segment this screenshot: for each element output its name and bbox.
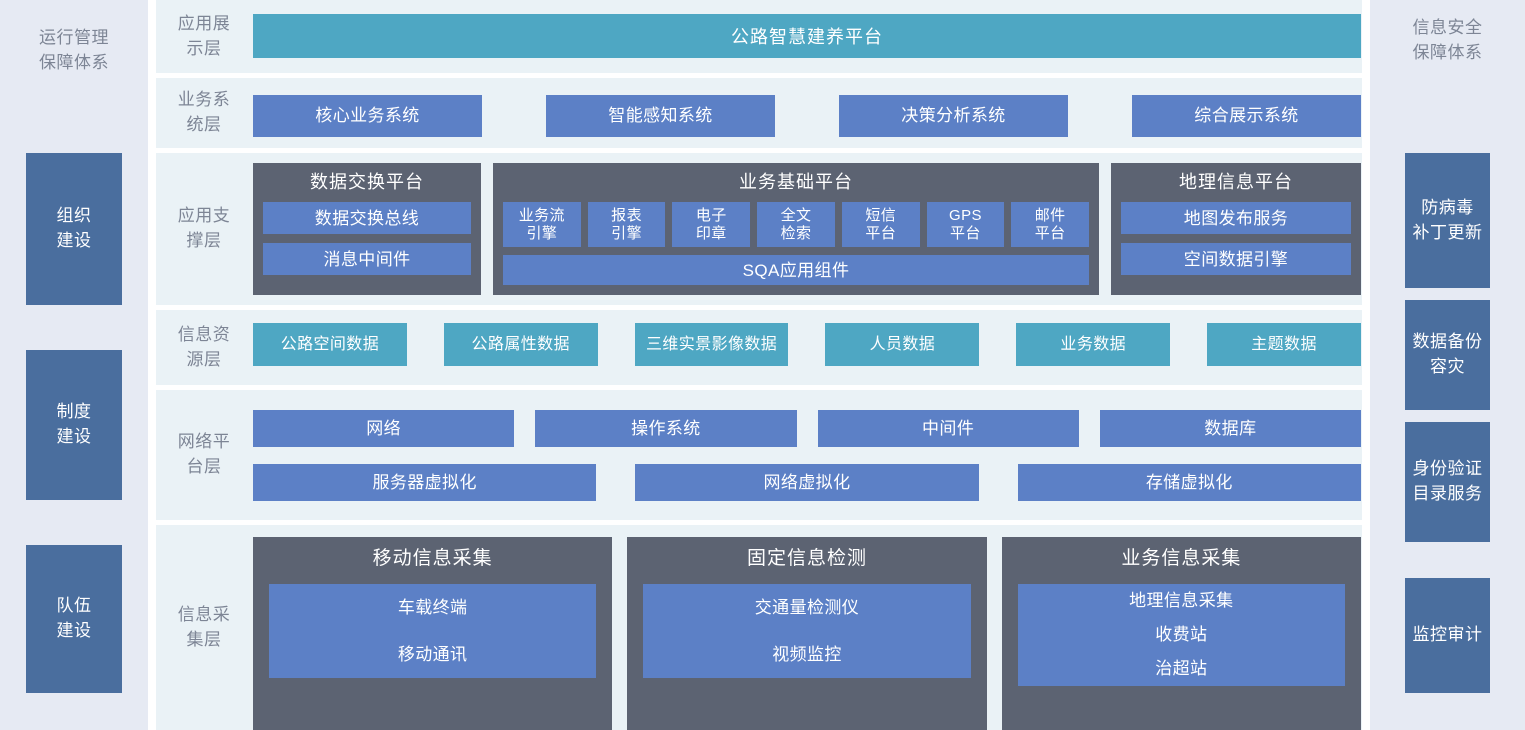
tile-vehicle-terminal-label: 车载终端	[398, 597, 468, 618]
tile-data-exchange-bus[interactable]: 数据交换总线	[263, 202, 471, 234]
right-rail-box-monitoring-audit[interactable]: 监控审计	[1405, 578, 1490, 693]
tile-sqa-application-component-label: SQA应用组件	[743, 260, 850, 281]
tile-network-virtualization-label: 网络虚拟化	[763, 472, 850, 493]
tile-mobile-communication[interactable]: 移动通讯	[269, 631, 596, 678]
platform-banner[interactable]: 公路智慧建养平台	[253, 14, 1361, 58]
tile-network[interactable]: 网络	[253, 410, 514, 447]
panel-data-exchange-platform: 数据交换平台 数据交换总线 消息中间件	[253, 163, 481, 295]
left-rail-box-team-label: 队伍 建设	[57, 594, 92, 643]
tile-decision-analysis-system[interactable]: 决策分析系统	[839, 95, 1068, 137]
tile-sqa-application-component[interactable]: SQA应用组件	[503, 255, 1089, 285]
right-rail-box-monitoring-audit-label: 监控审计	[1413, 623, 1483, 648]
tile-server-virtualization-label: 服务器虚拟化	[372, 472, 476, 493]
tile-video-surveillance[interactable]: 视频监控	[643, 631, 970, 678]
tile-database-label: 数据库	[1204, 418, 1256, 439]
tile-electronic-seal[interactable]: 电子 印章	[672, 202, 750, 247]
tile-toll-station-label: 收费站	[1155, 624, 1207, 645]
tile-email-platform[interactable]: 邮件 平台	[1011, 202, 1089, 247]
tile-traffic-volume-detector[interactable]: 交通量检测仪	[643, 584, 970, 631]
tile-network-virtualization[interactable]: 网络虚拟化	[635, 464, 978, 501]
tile-personnel-data-label: 人员数据	[870, 335, 936, 355]
tile-server-virtualization[interactable]: 服务器虚拟化	[253, 464, 596, 501]
panel-data-exchange-platform-title: 数据交换平台	[263, 171, 471, 194]
layer-stack: 应用展 示层 公路智慧建养平台 业务系 统层 核心业务系统 智能感知系统	[148, 0, 1370, 730]
tile-thematic-data-label: 主题数据	[1251, 335, 1317, 355]
tile-intelligent-sensing-system-label: 智能感知系统	[608, 105, 712, 126]
tile-core-business-system[interactable]: 核心业务系统	[253, 95, 482, 137]
panel-gis-platform-items: 地图发布服务 空间数据引擎	[1121, 202, 1351, 285]
panel-business-base-platform: 业务基础平台 业务流 引擎 报表 引擎 电子 印章	[493, 163, 1099, 295]
layer-information-resource-body: 公路空间数据 公路属性数据 三维实景影像数据 人员数据 业务数据	[252, 310, 1362, 385]
right-rail-box-identity-directory-label: 身份验证 目录服务	[1413, 457, 1483, 506]
tile-integrated-display-system[interactable]: 综合展示系统	[1132, 95, 1361, 137]
tile-data-exchange-bus-label: 数据交换总线	[315, 208, 419, 229]
tile-gps-platform[interactable]: GPS 平台	[927, 202, 1005, 247]
information-collection-panels: 移动信息采集 车载终端 移动通讯 固定信息检测	[253, 537, 1361, 730]
tile-email-platform-label: 邮件 平台	[1035, 207, 1066, 243]
right-rail-box-data-backup[interactable]: 数据备份 容灾	[1405, 300, 1490, 410]
network-platform-row-virtualization: 服务器虚拟化 网络虚拟化 存储虚拟化	[253, 464, 1361, 501]
tile-middleware[interactable]: 中间件	[818, 410, 1079, 447]
tile-integrated-display-system-label: 综合展示系统	[1194, 105, 1298, 126]
left-support-rail: 运行管理 保障体系 组织 建设 制度 建设 队伍 建设	[0, 0, 148, 730]
panel-fixed-information-detection-items: 交通量检测仪 视频监控	[643, 584, 970, 678]
layer-business-system-body: 核心业务系统 智能感知系统 决策分析系统 综合展示系统	[252, 78, 1362, 148]
left-rail-box-organization[interactable]: 组织 建设	[26, 153, 122, 305]
right-rail-title: 信息安全 保障体系	[1370, 16, 1525, 65]
tile-overload-control-station[interactable]: 治超站	[1018, 652, 1345, 686]
tile-road-spatial-data[interactable]: 公路空间数据	[253, 323, 407, 366]
layer-information-resource-label: 信息资 源层	[156, 323, 252, 372]
layer-network-platform-body: 网络 操作系统 中间件 数据库 服务	[252, 390, 1362, 520]
platform-banner-label: 公路智慧建养平台	[731, 23, 883, 49]
layer-application-support-body: 数据交换平台 数据交换总线 消息中间件 业务基础平台	[252, 153, 1362, 305]
panel-mobile-information-collection-items: 车载终端 移动通讯	[269, 584, 596, 678]
tile-electronic-seal-label: 电子 印章	[696, 207, 727, 243]
tile-traffic-volume-detector-label: 交通量检测仪	[755, 597, 859, 618]
tile-road-attribute-data[interactable]: 公路属性数据	[444, 323, 598, 366]
layer-business-system-label: 业务系 统层	[156, 88, 252, 137]
layer-information-collection-label: 信息采 集层	[156, 603, 252, 652]
layer-application-support-label: 应用支 撑层	[156, 204, 252, 253]
tile-report-engine-label: 报表 引擎	[611, 207, 642, 243]
tile-overload-control-station-label: 治超站	[1155, 658, 1207, 679]
business-system-row: 核心业务系统 智能感知系统 决策分析系统 综合展示系统	[253, 95, 1361, 137]
layer-network-platform-label: 网络平 台层	[156, 430, 252, 479]
panel-business-information-collection: 业务信息采集 地理信息采集 收费站 治超站	[1002, 537, 1361, 730]
panel-business-information-collection-items: 地理信息采集 收费站 治超站	[1018, 584, 1345, 686]
tile-personnel-data[interactable]: 人员数据	[825, 323, 979, 366]
tile-core-business-system-label: 核心业务系统	[315, 105, 419, 126]
tile-toll-station[interactable]: 收费站	[1018, 618, 1345, 652]
tile-road-spatial-data-label: 公路空间数据	[281, 335, 379, 355]
tile-gps-platform-label: GPS 平台	[949, 207, 982, 243]
tile-mobile-communication-label: 移动通讯	[398, 644, 468, 665]
tile-spatial-data-engine-label: 空间数据引擎	[1184, 249, 1288, 270]
tile-geographic-information-collection-label: 地理信息采集	[1129, 590, 1233, 611]
tile-sms-platform-label: 短信 平台	[865, 207, 896, 243]
tile-business-data[interactable]: 业务数据	[1016, 323, 1170, 366]
layer-application-display: 应用展 示层 公路智慧建养平台	[156, 0, 1362, 73]
tile-spatial-data-engine[interactable]: 空间数据引擎	[1121, 243, 1351, 275]
layer-business-system: 业务系 统层 核心业务系统 智能感知系统 决策分析系统 综合展示系统	[156, 78, 1362, 148]
tile-report-engine[interactable]: 报表 引擎	[588, 202, 666, 247]
network-platform-row-infra: 网络 操作系统 中间件 数据库	[253, 410, 1361, 447]
panel-gis-platform-title: 地理信息平台	[1121, 171, 1351, 194]
tile-operating-system[interactable]: 操作系统	[535, 410, 796, 447]
left-rail-box-institution[interactable]: 制度 建设	[26, 350, 122, 500]
tile-operating-system-label: 操作系统	[631, 418, 701, 439]
right-rail-box-antivirus-patch[interactable]: 防病毒 补丁更新	[1405, 153, 1490, 288]
layer-application-display-body: 公路智慧建养平台	[252, 0, 1362, 73]
architecture-diagram: 运行管理 保障体系 组织 建设 制度 建设 队伍 建设 应用展 示层 公路智慧建…	[0, 0, 1525, 730]
tile-storage-virtualization-label: 存储虚拟化	[1146, 472, 1233, 493]
tile-database[interactable]: 数据库	[1100, 410, 1361, 447]
layer-information-collection: 信息采 集层 移动信息采集 车载终端 移动通讯	[156, 525, 1362, 730]
business-base-chip-row: 业务流 引擎 报表 引擎 电子 印章 全文 检索	[503, 202, 1089, 247]
tile-full-text-search[interactable]: 全文 检索	[757, 202, 835, 247]
left-rail-box-organization-label: 组织 建设	[57, 204, 92, 253]
information-resource-row: 公路空间数据 公路属性数据 三维实景影像数据 人员数据 业务数据	[253, 323, 1361, 366]
right-security-rail: 信息安全 保障体系 防病毒 补丁更新 数据备份 容灾 身份验证 目录服务 监控审…	[1370, 0, 1525, 730]
tile-3d-realistic-image-data[interactable]: 三维实景影像数据	[635, 323, 789, 366]
left-rail-box-institution-label: 制度 建设	[57, 400, 92, 449]
tile-3d-realistic-image-data-label: 三维实景影像数据	[646, 335, 777, 355]
panel-mobile-information-collection-title: 移动信息采集	[269, 547, 596, 572]
tile-full-text-search-label: 全文 检索	[781, 207, 812, 243]
support-panels-row: 数据交换平台 数据交换总线 消息中间件 业务基础平台	[253, 163, 1361, 295]
tile-message-middleware-label: 消息中间件	[324, 249, 411, 270]
tile-decision-analysis-system-label: 决策分析系统	[901, 105, 1005, 126]
layer-application-display-label: 应用展 示层	[156, 12, 252, 61]
tile-sms-platform[interactable]: 短信 平台	[842, 202, 920, 247]
panel-mobile-information-collection: 移动信息采集 车载终端 移动通讯	[253, 537, 612, 730]
layer-application-support: 应用支 撑层 数据交换平台 数据交换总线 消息中间件	[156, 153, 1362, 305]
tile-vehicle-terminal[interactable]: 车载终端	[269, 584, 596, 631]
left-rail-box-team[interactable]: 队伍 建设	[26, 545, 122, 693]
right-rail-box-data-backup-label: 数据备份 容灾	[1413, 330, 1483, 379]
network-platform-rows: 网络 操作系统 中间件 数据库 服务	[253, 410, 1361, 501]
tile-workflow-engine-label: 业务流 引擎	[519, 207, 565, 243]
right-rail-box-identity-directory[interactable]: 身份验证 目录服务	[1405, 422, 1490, 542]
layer-network-platform: 网络平 台层 网络 操作系统 中间件 数据库	[156, 390, 1362, 520]
panel-fixed-information-detection-title: 固定信息检测	[643, 547, 970, 572]
panel-gis-platform: 地理信息平台 地图发布服务 空间数据引擎	[1111, 163, 1361, 295]
tile-workflow-engine[interactable]: 业务流 引擎	[503, 202, 581, 247]
tile-thematic-data[interactable]: 主题数据	[1207, 323, 1361, 366]
tile-middleware-label: 中间件	[922, 418, 974, 439]
tile-geographic-information-collection[interactable]: 地理信息采集	[1018, 584, 1345, 618]
tile-road-attribute-data-label: 公路属性数据	[472, 335, 570, 355]
tile-video-surveillance-label: 视频监控	[772, 644, 842, 665]
tile-map-publishing-service-label: 地图发布服务	[1184, 208, 1288, 229]
panel-business-base-platform-title: 业务基础平台	[503, 171, 1089, 194]
tile-storage-virtualization[interactable]: 存储虚拟化	[1018, 464, 1361, 501]
layer-information-resource: 信息资 源层 公路空间数据 公路属性数据 三维实景影像数据 人员数据	[156, 310, 1362, 385]
tile-business-data-label: 业务数据	[1060, 335, 1126, 355]
tile-map-publishing-service[interactable]: 地图发布服务	[1121, 202, 1351, 234]
layer-information-collection-body: 移动信息采集 车载终端 移动通讯 固定信息检测	[252, 525, 1362, 730]
panel-data-exchange-platform-items: 数据交换总线 消息中间件	[263, 202, 471, 285]
right-rail-box-antivirus-patch-label: 防病毒 补丁更新	[1413, 196, 1483, 245]
panel-fixed-information-detection: 固定信息检测 交通量检测仪 视频监控	[627, 537, 986, 730]
tile-message-middleware[interactable]: 消息中间件	[263, 243, 471, 275]
panel-business-information-collection-title: 业务信息采集	[1018, 547, 1345, 572]
left-rail-title: 运行管理 保障体系	[0, 26, 148, 75]
tile-intelligent-sensing-system[interactable]: 智能感知系统	[546, 95, 775, 137]
tile-network-label: 网络	[366, 418, 401, 439]
